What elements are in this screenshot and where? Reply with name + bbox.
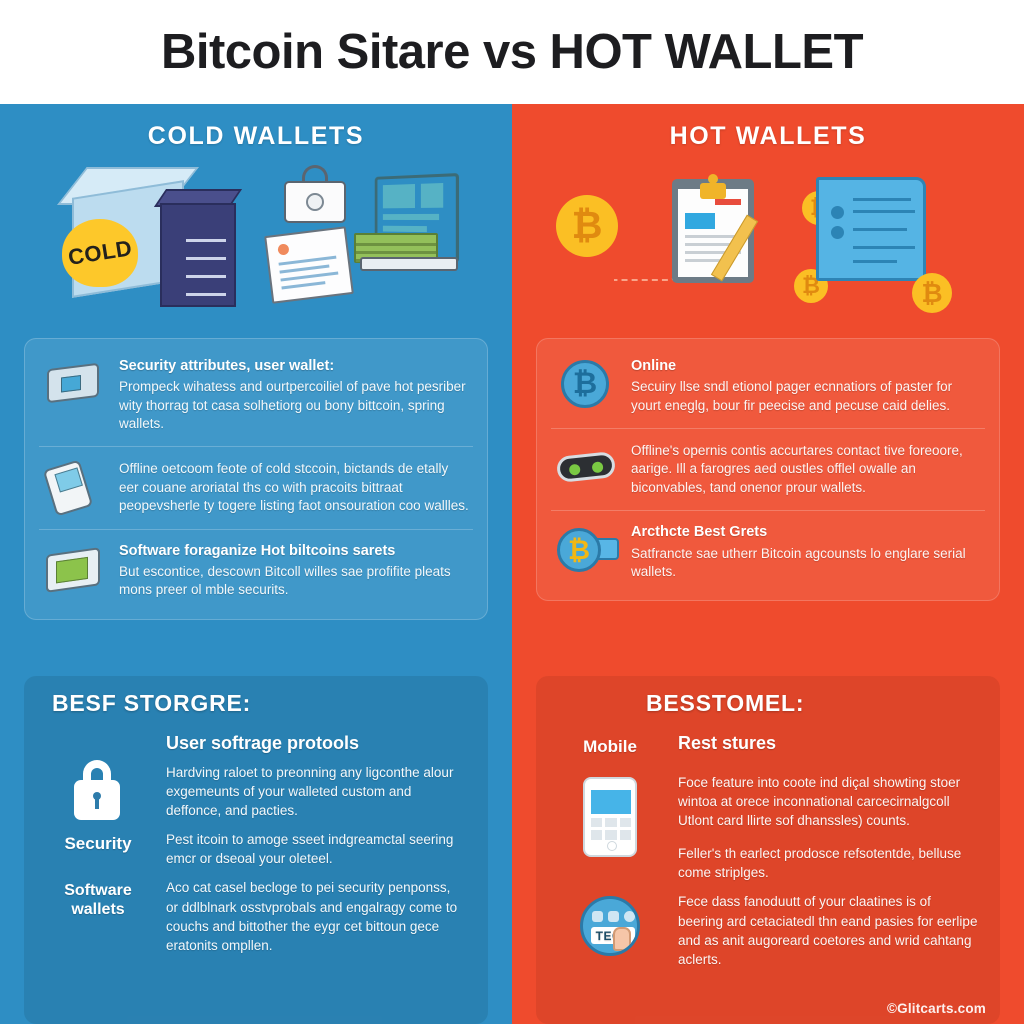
cold-wallet-column: COLD WALLETS COLD: [0, 104, 512, 1024]
hot-feature-row-2: Offline's opernis contis accurtares cont…: [551, 428, 985, 510]
hot-section-title: BESSTOMEL:: [536, 676, 1000, 729]
hot-bottom-row-1: Mobile Rest stures: [536, 729, 1000, 769]
bitcoin-coin-large-icon: ₿: [556, 195, 618, 257]
tech-touch-icon: TECH: [558, 892, 662, 956]
cold-row-body: Hardving raloet to preonning any ligcont…: [166, 763, 466, 820]
hot-bottom-zone: BESSTOMEL: Mobile Rest stures: [512, 660, 1024, 1024]
hot-feature-heading: Online: [631, 358, 981, 375]
cold-bottom-zone: BESF STORGRE: User softrage protools Har…: [0, 660, 512, 1024]
hot-row-label: Mobile: [558, 733, 662, 757]
hot-feature-body: Secuiry llse sndl etionol pager ecnnatio…: [631, 378, 981, 415]
mobile-phone-keypad-icon: [43, 460, 105, 514]
cold-feature-body: Prompeck wihatess and ourtpercoiliel of …: [119, 378, 469, 433]
page-title: Bitcoin Sitare vs HOT WALLET: [161, 24, 863, 80]
cold-section-title: BESF STORGRE:: [24, 676, 488, 729]
hardware-wallet-icon: [43, 358, 105, 412]
cold-feature-body: Offline oetcoom feote of cold stccoin, b…: [119, 460, 469, 515]
hot-row-body: Foce feature into coote ind diçal showti…: [678, 773, 978, 830]
cold-feature-row-1: Security attributes, user wallet: Prompe…: [39, 345, 473, 446]
documents-icon: [264, 226, 354, 303]
hot-row-body: Feller's th earlect prodosce refsotentde…: [678, 844, 978, 882]
usb-hardware-device-icon: [555, 442, 617, 496]
hot-feature-card: ₿ Online Secuiry llse sndl etionol pager…: [536, 338, 1000, 601]
hot-feature-heading: Arcthcte Best Grets: [631, 524, 981, 541]
two-column-split: COLD WALLETS COLD: [0, 104, 1024, 1024]
cold-row-label: [46, 733, 150, 737]
safe-cabinet-icon: [160, 203, 236, 307]
bitcoin-chat-icon: ₿: [555, 524, 617, 578]
hot-row-body: Fece dass fanoduutt of your claatines is…: [678, 892, 978, 969]
title-bar: Bitcoin Sitare vs HOT WALLET: [0, 0, 1024, 104]
blue-document-icon: [816, 177, 926, 281]
hot-bottom-row-1-content: Foce feature into coote ind diçal showti…: [536, 769, 1000, 889]
watermark: ©Glitcarts.com: [887, 1001, 986, 1016]
hot-row-heading: Rest stures: [678, 733, 978, 755]
cold-badge-icon: COLD: [62, 219, 138, 287]
tablet-device-icon: [43, 543, 105, 597]
hot-hero-artwork: ₿ ₿ ₿: [512, 161, 1024, 311]
bitcoin-coin-blue-icon: ₿: [555, 358, 617, 412]
cold-feature-heading: Software foraganize Hot biltcoins sarets: [119, 543, 469, 560]
cold-row-label: Software wallets: [46, 878, 150, 920]
bitcoin-coin-small-icon: ₿: [912, 273, 952, 313]
cold-bottom-row-2: Security Pest itcoin to amoge sseet indg…: [24, 826, 488, 874]
cold-bottom-row-3: Software wallets Aco cat casel becloge t…: [24, 874, 488, 961]
cold-feature-row-3: Software foraganize Hot biltcoins sarets…: [39, 529, 473, 613]
cold-best-storage-card: BESF STORGRE: User softrage protools Har…: [24, 676, 488, 1024]
hot-hero: HOT WALLETS ₿: [512, 104, 1024, 316]
briefcase-dial-icon: [306, 193, 324, 211]
cold-row-heading: User softrage protools: [166, 733, 466, 755]
cold-row-body: Pest itcoin to amoge sseet indgreamctal …: [166, 830, 466, 868]
padlock-icon: [68, 758, 126, 820]
cold-feature-zone: Security attributes, user wallet: Prompe…: [0, 316, 512, 660]
smartphone-icon: [558, 773, 662, 857]
hot-bottom-row-2: TECH Fece dass fanoduutt of your claatin…: [536, 888, 1000, 975]
cold-hero: COLD WALLETS COLD: [0, 104, 512, 316]
cold-feature-heading: Security attributes, user wallet:: [119, 358, 469, 375]
cold-hero-title: COLD WALLETS: [0, 122, 512, 151]
cold-hero-artwork: COLD: [0, 161, 512, 311]
cold-row-body: Aco cat casel becloge to pei security pe…: [166, 878, 466, 955]
hot-feature-body: Satfrancte sae utherr Bitcoin agcounsts …: [631, 545, 981, 582]
cold-row-label: Security: [46, 830, 150, 854]
cold-feature-row-2: Offline oetcoom feote of cold stccoin, b…: [39, 446, 473, 528]
cold-badge-label: COLD: [66, 235, 134, 271]
hot-feature-row-1: ₿ Online Secuiry llse sndl etionol pager…: [551, 345, 985, 428]
hot-feature-row-3: ₿ Arcthcte Best Grets Satfrancte sae uth…: [551, 510, 985, 594]
hot-feature-body: Offline's opernis contis accurtares cont…: [631, 442, 981, 497]
cold-feature-body: But escontice, descown Bitcoll willes sa…: [119, 563, 469, 600]
hot-wallet-column: HOT WALLETS ₿: [512, 104, 1024, 1024]
laptop-base-icon: [360, 257, 458, 271]
hot-best-model-card: BESSTOMEL: Mobile Rest stures: [536, 676, 1000, 1024]
cold-feature-card: Security attributes, user wallet: Prompe…: [24, 338, 488, 620]
infographic-poster: Bitcoin Sitare vs HOT WALLET COLD WALLET…: [0, 0, 1024, 1024]
hot-hero-title: HOT WALLETS: [512, 122, 1024, 151]
hot-feature-zone: ₿ Online Secuiry llse sndl etionol pager…: [512, 316, 1024, 660]
